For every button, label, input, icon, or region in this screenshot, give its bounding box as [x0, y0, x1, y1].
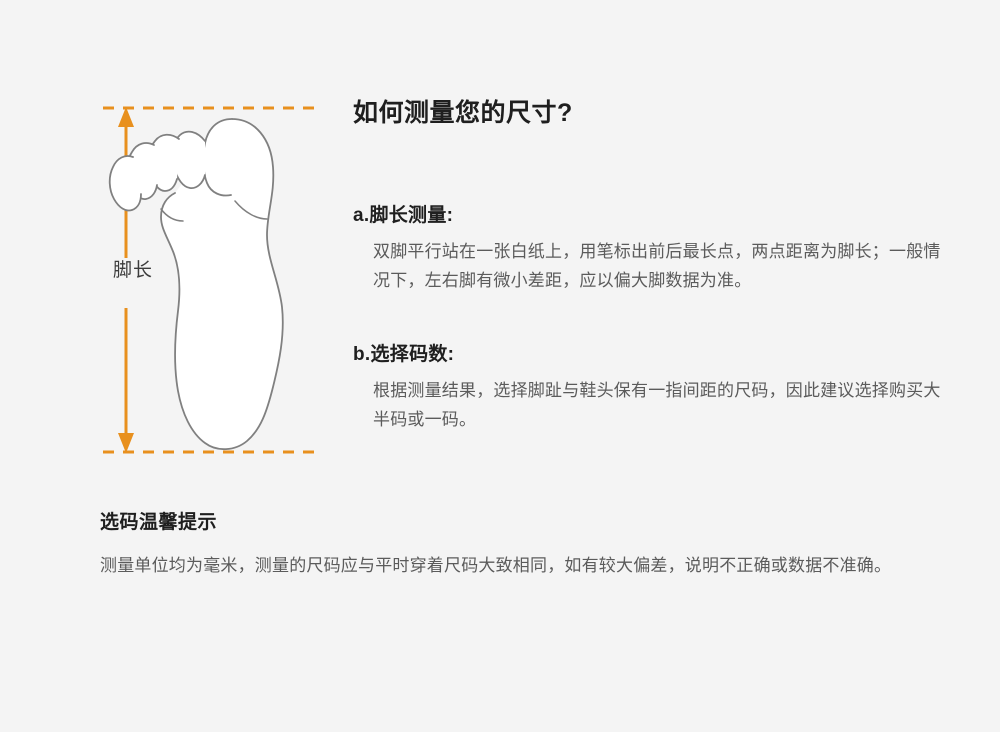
tips-title: 选码温馨提示	[100, 512, 910, 535]
tips-section: 选码温馨提示 测量单位均为毫米，测量的尺码应与平时穿着尺码大致相同，如有较大偏差…	[100, 512, 910, 580]
toe-1-big	[203, 119, 232, 196]
page-title: 如何测量您的尺寸?	[353, 98, 953, 128]
step-a-title: a.脚长测量:	[353, 204, 953, 229]
foot-sole-illustration	[110, 119, 283, 449]
arrow-head-down	[118, 433, 134, 453]
instructions-section: 如何测量您的尺寸? a.脚长测量: 双脚平行站在一张白纸上，用笔标出前后最长点，…	[353, 98, 953, 434]
step-b: b.选择码数: 根据测量结果，选择脚趾与鞋头保有一指间距的尺码，因此建议选择购买…	[353, 343, 953, 434]
step-a-body: 双脚平行站在一张白纸上，用笔标出前后最长点，两点距离为脚长；一般情况下，左右脚有…	[353, 237, 941, 295]
step-a: a.脚长测量: 双脚平行站在一张白纸上，用笔标出前后最长点，两点距离为脚长；一般…	[353, 204, 953, 295]
foot-length-label: 脚长	[95, 261, 171, 280]
step-b-body: 根据测量结果，选择脚趾与鞋头保有一指间距的尺码，因此建议选择购买大半码或一码。	[353, 376, 941, 434]
step-b-title: b.选择码数:	[353, 343, 953, 368]
tips-body: 测量单位均为毫米，测量的尺码应与平时穿着尺码大致相同，如有较大偏差，说明不正确或…	[100, 551, 910, 580]
foot-diagram-svg	[95, 95, 345, 475]
size-guide-page: 脚长 如何测量您的尺寸? a.脚长测量: 双脚平行站在一张白纸上，用笔标出前后最…	[0, 0, 1000, 732]
foot-measurement-diagram: 脚长	[95, 95, 345, 475]
arrow-head-up	[118, 107, 134, 127]
